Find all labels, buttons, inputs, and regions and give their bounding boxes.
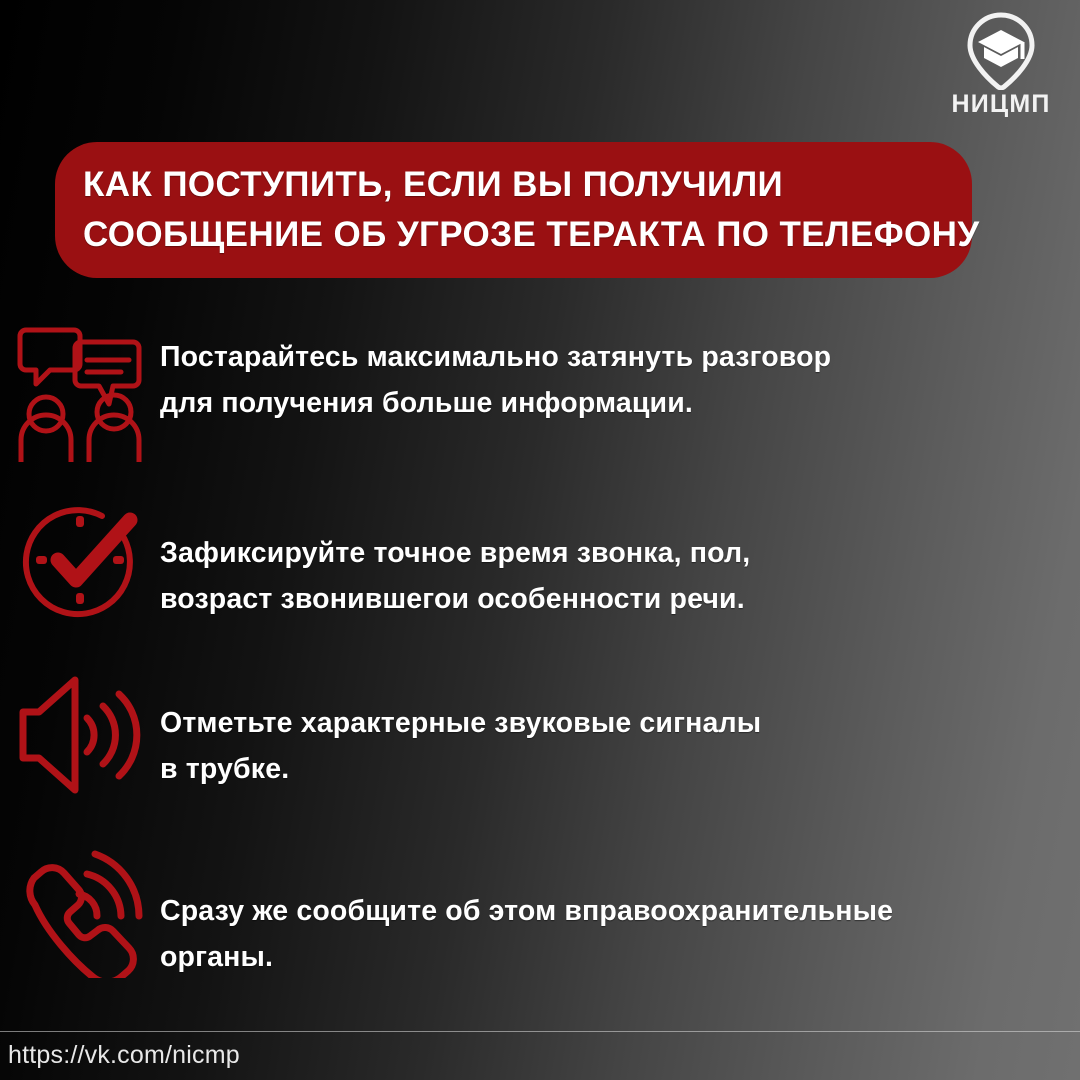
- ringing-phone-handset-icon: [17, 850, 143, 978]
- page-title-line-1: КАК ПОСТУПИТЬ, ЕСЛИ ВЫ ПОЛУЧИЛИ: [83, 160, 946, 210]
- tip-text: Постарайтесь максимально затянуть разгов…: [160, 318, 1080, 426]
- two-people-speech-bubbles-icon: [17, 322, 143, 462]
- footer-url[interactable]: https://vk.com/nicmp: [8, 1043, 240, 1068]
- tip-text-line-2: для получения больше информации.: [160, 380, 1044, 426]
- page-title-line-2: СООБЩЕНИЕ ОБ УГРОЗЕ ТЕРАКТА ПО ТЕЛЕФОНУ: [83, 210, 946, 260]
- list-item: Отметьте характерные звуковые сигналы в …: [0, 670, 1080, 820]
- brand-logo: НИЦМП: [936, 12, 1066, 117]
- list-item: Постарайтесь максимально затянуть разгов…: [0, 318, 1080, 468]
- brand-wordmark: НИЦМП: [951, 92, 1050, 117]
- tips-list: Постарайтесь максимально затянуть разгов…: [0, 318, 1080, 1022]
- footer-divider: [0, 1031, 1080, 1032]
- tip-icon-cell: [0, 670, 160, 796]
- tip-text: Зафиксируйте точное время звонка, пол, в…: [160, 494, 1080, 622]
- tip-text-line-2: возраст звонившегои особенности речи.: [160, 576, 1044, 622]
- graduation-cap-pin-icon: [964, 12, 1038, 90]
- tip-icon-cell: [0, 318, 160, 462]
- tip-icon-cell: [0, 494, 160, 622]
- tip-text-line-1: Сразу же сообщите об этом вправоохраните…: [160, 888, 1044, 934]
- list-item: Сразу же сообщите об этом вправоохраните…: [0, 846, 1080, 996]
- speaker-sound-waves-icon: [17, 674, 143, 796]
- tip-text: Отметьте характерные звуковые сигналы в …: [160, 670, 1080, 792]
- infographic-poster: НИЦМП КАК ПОСТУПИТЬ, ЕСЛИ ВЫ ПОЛУЧИЛИ СО…: [0, 0, 1080, 1080]
- tip-text-line-2: в трубке.: [160, 746, 1044, 792]
- tip-text-line-2: органы.: [160, 934, 1044, 980]
- tip-text-line-1: Отметьте характерные звуковые сигналы: [160, 700, 1044, 746]
- page-title-banner: КАК ПОСТУПИТЬ, ЕСЛИ ВЫ ПОЛУЧИЛИ СООБЩЕНИ…: [55, 142, 972, 278]
- list-item: Зафиксируйте точное время звонка, пол, в…: [0, 494, 1080, 644]
- tip-text: Сразу же сообщите об этом вправоохраните…: [160, 846, 1080, 980]
- clock-checkmark-icon: [18, 498, 142, 622]
- tip-icon-cell: [0, 846, 160, 978]
- tip-text-line-1: Зафиксируйте точное время звонка, пол,: [160, 530, 1044, 576]
- tip-text-line-1: Постарайтесь максимально затянуть разгов…: [160, 334, 1044, 380]
